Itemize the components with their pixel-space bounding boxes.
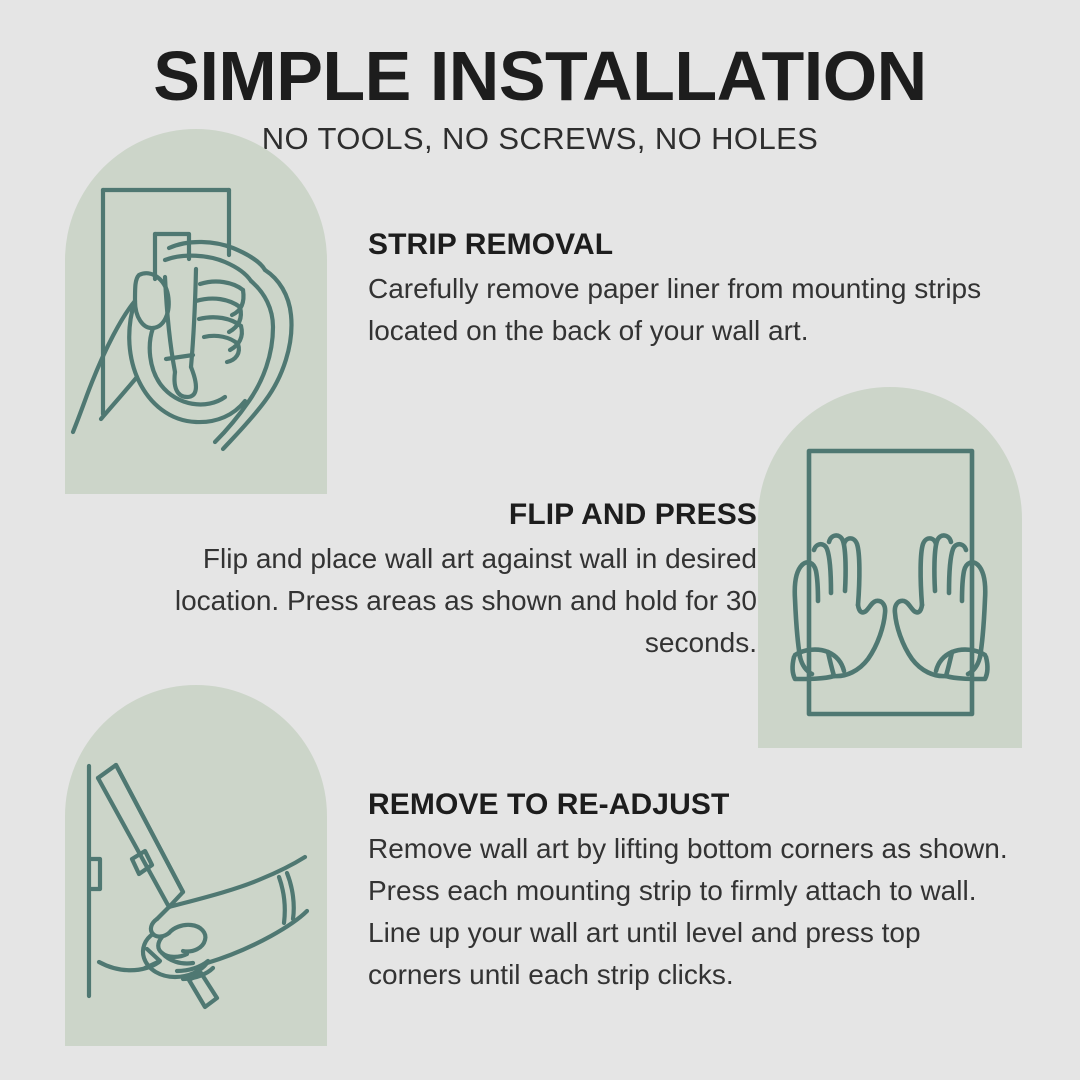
step-1-body: Carefully remove paper liner from mounti… xyxy=(368,268,993,352)
step-3-title: REMOVE TO RE-ADJUST xyxy=(368,786,1008,824)
step-3-body: Remove wall art by lifting bottom corner… xyxy=(368,828,1008,996)
step-2-title: FLIP AND PRESS xyxy=(112,496,757,534)
infographic-page: SIMPLE INSTALLATION NO TOOLS, NO SCREWS,… xyxy=(0,0,1080,1080)
two-hands-pressing-frame-icon xyxy=(758,387,1022,748)
step-remove-to-readjust: REMOVE TO RE-ADJUST Remove wall art by l… xyxy=(368,786,1008,996)
step-1-title: STRIP REMOVAL xyxy=(368,226,993,264)
step-strip-removal: STRIP REMOVAL Carefully remove paper lin… xyxy=(368,226,993,352)
hand-lifting-corner-icon xyxy=(65,685,327,1046)
hand-peeling-liner-icon xyxy=(65,129,327,494)
illustration-arch-flip-and-press xyxy=(758,387,1022,748)
step-flip-and-press: FLIP AND PRESS Flip and place wall art a… xyxy=(112,496,757,664)
page-title: SIMPLE INSTALLATION xyxy=(0,38,1080,114)
illustration-arch-remove-to-readjust xyxy=(65,685,327,1046)
illustration-arch-strip-removal xyxy=(65,129,327,494)
step-2-body: Flip and place wall art against wall in … xyxy=(112,538,757,664)
